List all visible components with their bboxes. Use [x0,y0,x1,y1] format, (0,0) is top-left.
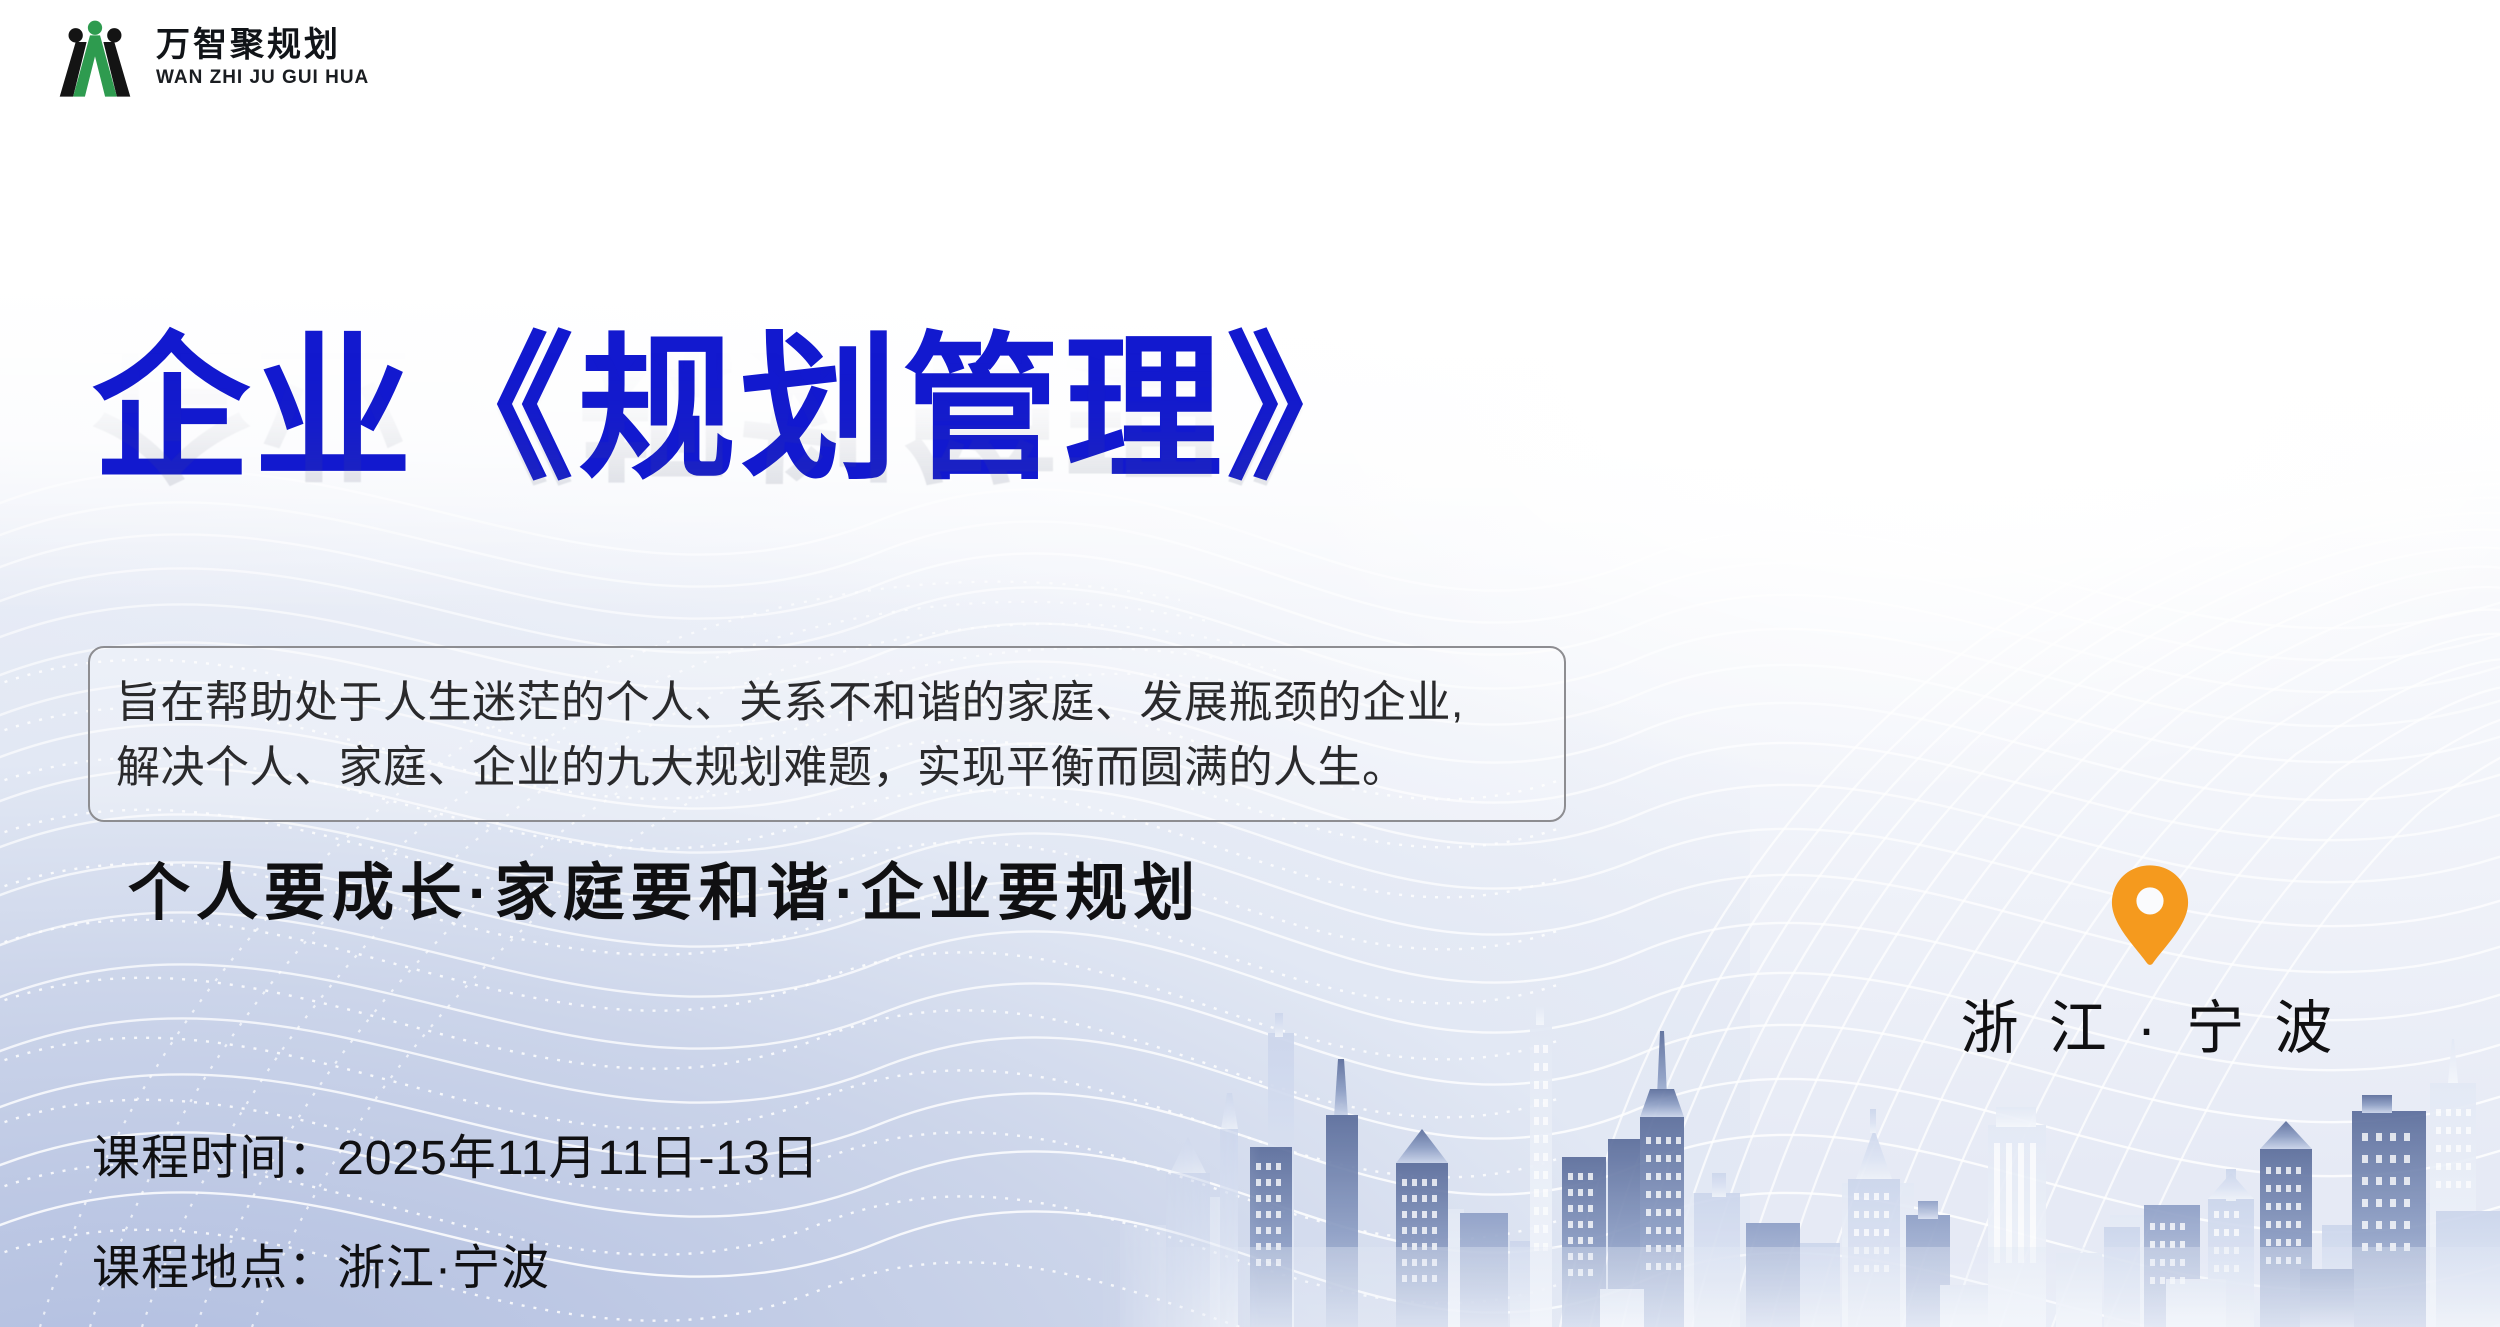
page-title-reflection: 企业《规划管理》 [92,314,1592,491]
course-info-block: 课程时间：2025年11月11日-13日 课程地点：浙江·宁波 [92,1118,820,1298]
brand-name-en: WAN ZHI JU GUI HUA [156,68,369,87]
hero-title-block: 企业《规划管理》 企业《规划管理》 [92,322,1592,668]
location-label: 浙 江 · 宁 波 [1940,981,2360,1065]
description-box: 旨在帮助处于人生迷茫的个人、关系不和谐的家庭、发展瓶颈的企业, 解决个人、家庭、… [88,646,1566,822]
location-badge: 浙 江 · 宁 波 [1940,862,2360,1065]
map-pin-icon [2110,862,2190,968]
three-people-mountain-logo-icon [52,16,138,100]
course-time: 课程时间：2025年11月11日-13日 [92,1118,820,1188]
brand-logo[interactable]: 万智聚规划 WAN ZHI JU GUI HUA [52,16,369,100]
description-line-1: 旨在帮助处于人生迷茫的个人、关系不和谐的家庭、发展瓶颈的企业, [116,670,1538,735]
brand-name-cn: 万智聚规划 [156,29,369,63]
course-place: 课程地点：浙江·宁波 [92,1228,820,1298]
slogan-text: 个人要成长·家庭要和谐·企业要规划 [128,842,1201,932]
poster-root: 万智聚规划 WAN ZHI JU GUI HUA 企业《规划管理》 企业《规划管… [0,0,2500,1327]
brand-logo-text: 万智聚规划 WAN ZHI JU GUI HUA [156,29,369,87]
description-line-2: 解决个人、家庭、企业的九大规划难题，实现平衡而圆满的人生。 [116,735,1538,800]
